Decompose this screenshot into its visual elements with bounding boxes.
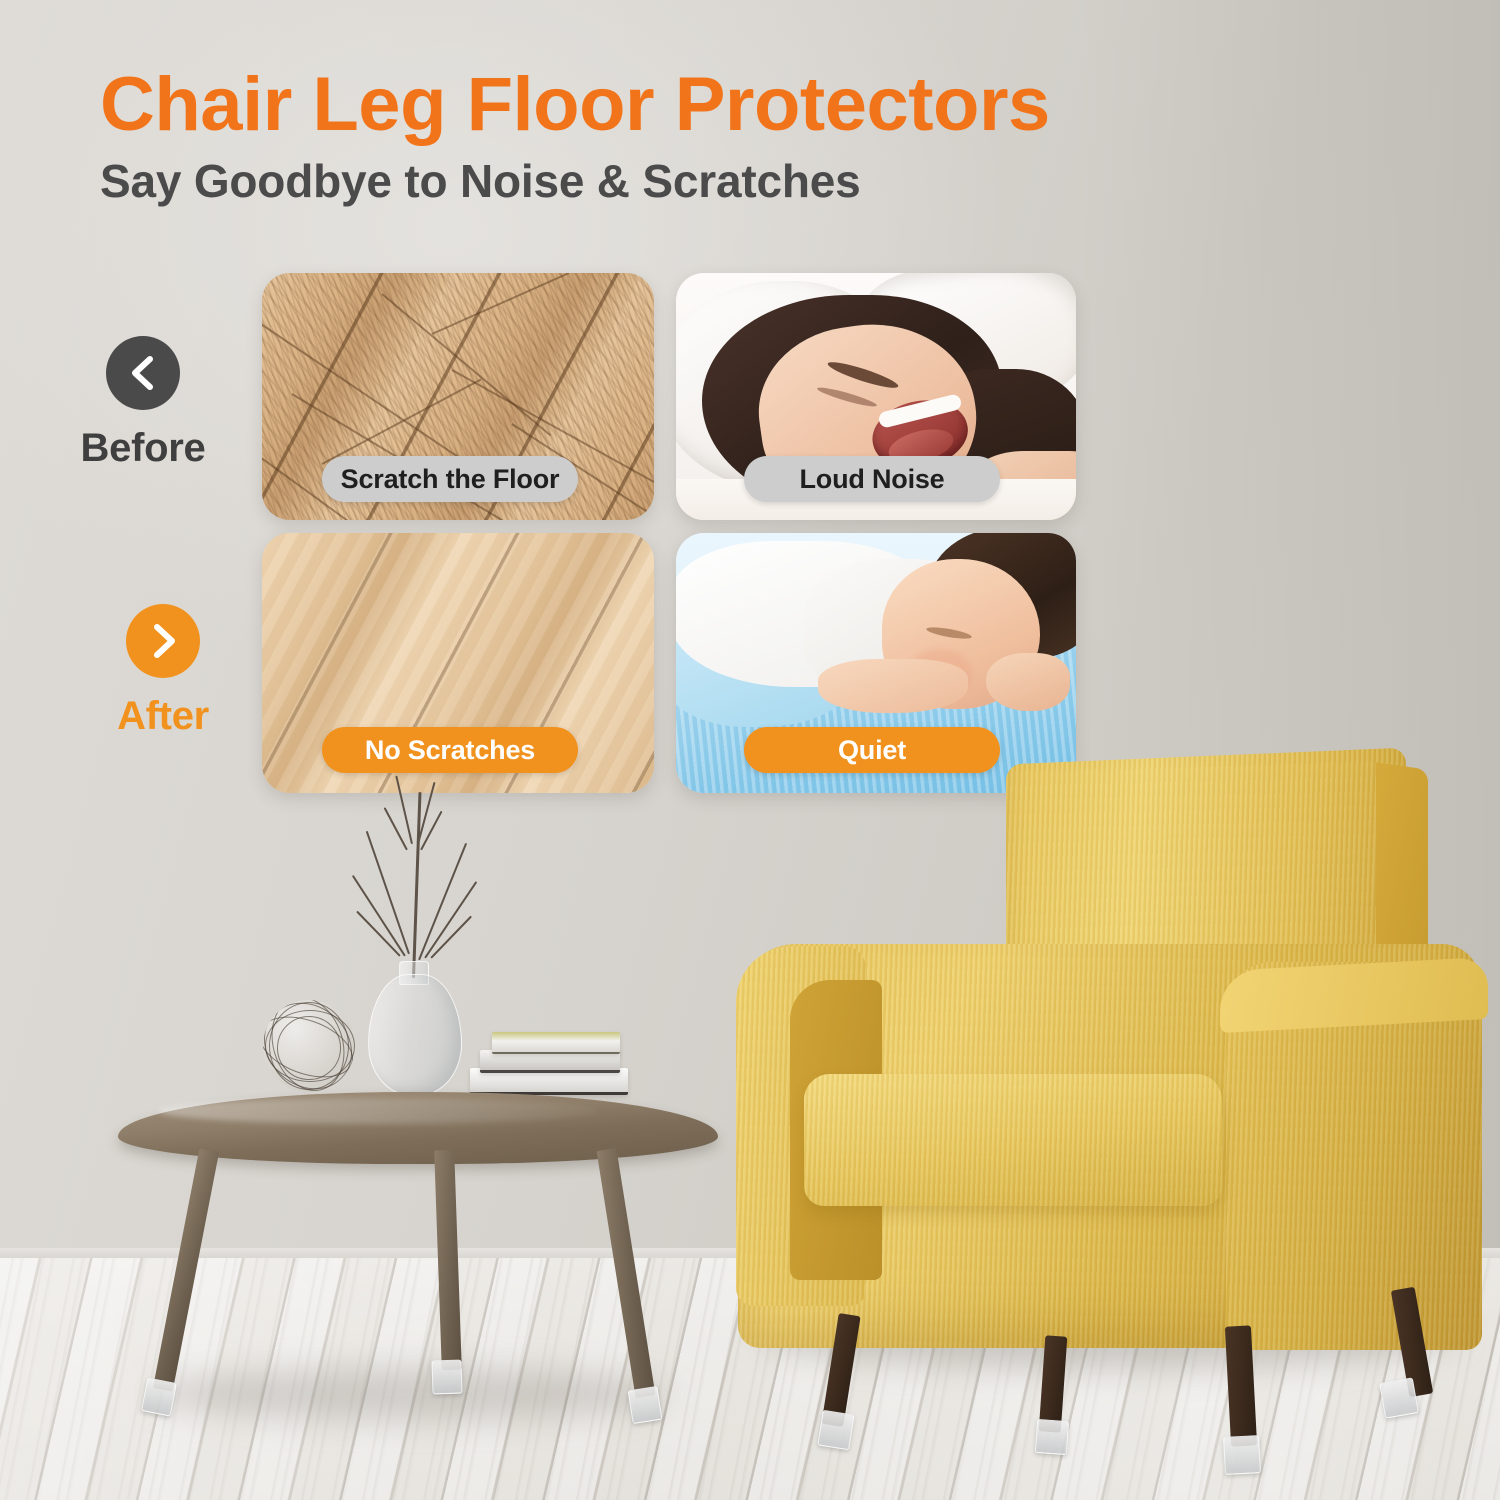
comparison-card-clean: No Scratches: [262, 533, 654, 793]
table-leg-protector-cap: [431, 1359, 462, 1394]
chair-leg-protector-cap: [817, 1410, 854, 1451]
card-caption-pill: Loud Noise: [744, 456, 1000, 502]
after-label: After: [88, 694, 238, 739]
page-subtitle: Say Goodbye to Noise & Scratches: [100, 154, 1280, 208]
chevron-left-icon: [106, 336, 180, 410]
before-label: Before: [68, 426, 218, 471]
stack-of-books: [470, 1026, 630, 1092]
table-leg: [597, 1148, 656, 1398]
round-wood-coffee-table: [118, 1092, 718, 1412]
book-top: [492, 1032, 620, 1054]
chair-leg-protector-cap: [1035, 1419, 1069, 1455]
comparison-card-scratch: Scratch the Floor: [262, 273, 654, 520]
armchair-seat-cushion: [804, 1074, 1222, 1206]
table-leg-protector-cap: [141, 1377, 177, 1416]
glass-vase: [368, 974, 462, 1096]
chair-leg-protector-cap: [1223, 1435, 1261, 1475]
card-caption-pill: No Scratches: [322, 727, 578, 773]
header: Chair Leg Floor Protectors Say Goodbye t…: [100, 66, 1280, 208]
comparison-card-noise: Loud Noise: [676, 273, 1076, 520]
card-caption-pill: Scratch the Floor: [322, 456, 578, 502]
wire-sphere-ornament: [263, 1000, 355, 1092]
yellow-armchair: [728, 748, 1500, 1378]
chevron-right-icon: [126, 604, 200, 678]
before-rail: Before: [68, 336, 218, 471]
product-lifestyle-image: Chair Leg Floor Protectors Say Goodbye t…: [0, 0, 1500, 1500]
table-leg: [153, 1148, 219, 1391]
table-leg-protector-cap: [628, 1386, 663, 1424]
table-leg: [434, 1150, 462, 1371]
after-rail: After: [88, 604, 238, 739]
page-title: Chair Leg Floor Protectors: [100, 66, 1280, 144]
chair-leg-protector-cap: [1379, 1377, 1419, 1418]
